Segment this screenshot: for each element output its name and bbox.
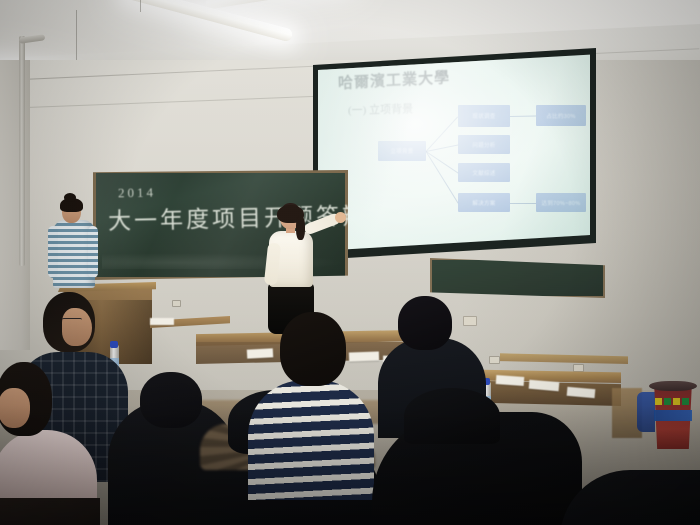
diagram-connector: [510, 116, 536, 117]
trash-bin-graphic: [655, 398, 691, 406]
student-head: [398, 296, 452, 350]
student-head: [280, 312, 346, 386]
observer-arm: [48, 226, 58, 278]
diagram-box-label: 解决方案: [472, 199, 495, 207]
blue-bin: [637, 392, 655, 432]
diagram-branch-box: 解决方案: [458, 193, 510, 212]
student-torso: [0, 498, 100, 525]
trash-bin-label: [654, 410, 692, 421]
diagram-box-label: 文献综述: [472, 169, 495, 177]
wall-outlet[interactable]: [489, 356, 500, 364]
student-face: [62, 308, 92, 346]
wall-outlet[interactable]: [172, 300, 181, 307]
wall-switch[interactable]: [463, 316, 477, 326]
paper-sheet: [247, 348, 273, 358]
diagram-box-label: 立项背景: [390, 147, 413, 155]
classroom-photo: 哈爾濱工業大學 (一) 立项背景 立项背景现状调查问题分析文献综述解决方案占比约…: [0, 0, 700, 525]
student-torso: [248, 380, 374, 500]
diagram-connector: [426, 151, 459, 203]
diagram-connector: [426, 116, 459, 152]
diagram-root-box: 立项背景: [378, 141, 426, 161]
student-head: [140, 372, 202, 428]
observer-arm: [88, 226, 98, 278]
diagram-box-label: 达到70%~80%: [542, 199, 581, 207]
diagram-branch-box: 现状调查: [458, 105, 510, 127]
glasses-icon: [62, 318, 82, 323]
light-hanger: [140, 0, 141, 12]
paper-sheet: [150, 318, 174, 325]
diagram-leaf-box: 达到70%~80%: [536, 193, 586, 212]
diagram-box-label: 问题分析: [472, 141, 495, 149]
presenter-hair: [296, 216, 305, 240]
diagram-branch-box: 文献综述: [458, 163, 510, 182]
diagram-box-label: 现状调查: [472, 112, 495, 120]
blackboard-year-text: 2014: [118, 185, 156, 202]
diagram-connector: [510, 203, 536, 204]
trash-bin-rim: [649, 381, 697, 391]
diagram-connector: [426, 151, 459, 173]
wall-outlet[interactable]: [573, 364, 584, 372]
diagram-box-label: 占比约30%: [546, 112, 575, 120]
wall-pipe: [19, 36, 25, 266]
student-face: [0, 388, 30, 428]
projection-screen[interactable]: 哈爾濱工業大學 (一) 立项背景 立项背景现状调查问题分析文献综述解决方案占比约…: [318, 53, 590, 253]
observer-hair-bun: [64, 193, 76, 202]
paper-sheet: [349, 351, 379, 361]
paper-sheet: [496, 375, 525, 386]
diagram-branch-box: 问题分析: [458, 135, 510, 154]
bottle-cap: [110, 341, 118, 348]
diagram-leaf-box: 占比约30%: [536, 105, 586, 126]
slide-diagram: 立项背景现状调查问题分析文献综述解决方案占比约30%达到70%~80%: [318, 53, 590, 253]
wall-column: [0, 60, 30, 350]
student-head: [404, 388, 500, 444]
presenter-hand: [335, 212, 346, 223]
